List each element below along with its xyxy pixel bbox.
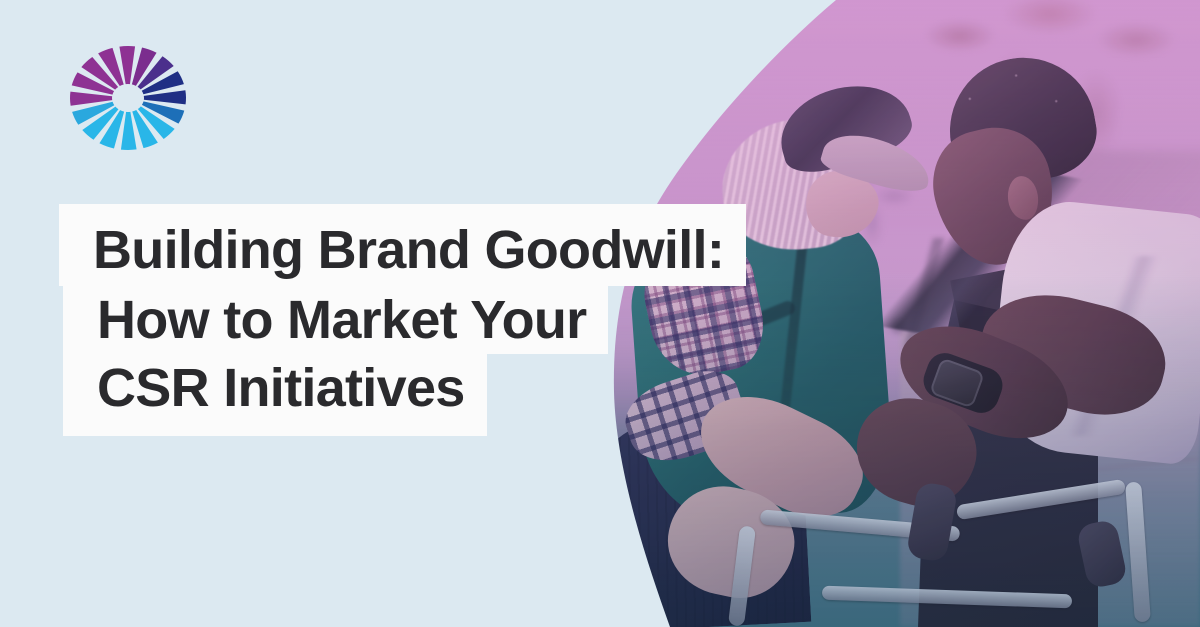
hero-banner: Building Brand Goodwill: How to Market Y…	[0, 0, 1200, 627]
sunburst-icon	[68, 44, 188, 152]
headline-line-3: CSR Initiatives	[63, 354, 487, 436]
headline-line-1: Building Brand Goodwill:	[59, 204, 746, 286]
page-title: Building Brand Goodwill: How to Market Y…	[59, 204, 819, 436]
headline-line-2: How to Market Your	[63, 286, 608, 354]
brand-logo[interactable]	[68, 44, 188, 152]
